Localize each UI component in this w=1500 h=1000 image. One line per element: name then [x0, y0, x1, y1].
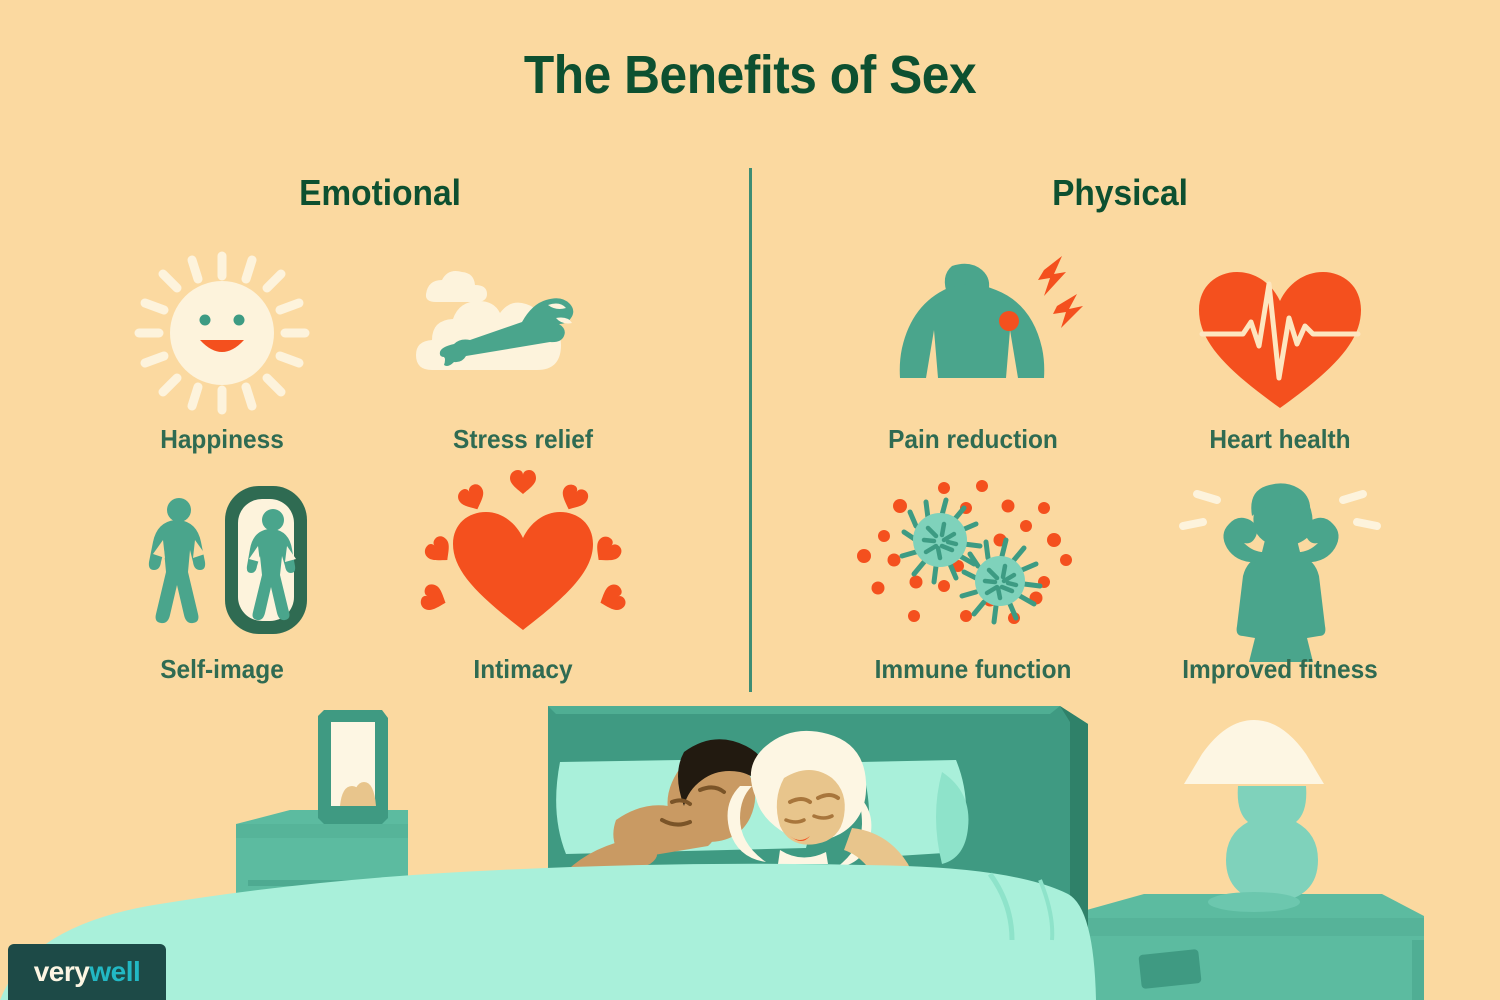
person-on-cloud-icon [398, 248, 648, 418]
benefit-label: Immune function [856, 654, 1091, 685]
heart-ecg-icon [1155, 248, 1405, 418]
benefit-label: Happiness [105, 424, 340, 455]
benefit-stress-relief: Stress relief [398, 248, 648, 455]
benefit-flexing-figure: Improved fitness [1155, 478, 1405, 685]
benefit-label: Self-image [105, 654, 340, 685]
column-heading-emotional: Emotional [185, 172, 576, 214]
benefit-happiness: Happiness [97, 248, 347, 455]
column-heading-physical: Physical [925, 172, 1316, 214]
benefit-heart-health: Heart health [1155, 248, 1405, 455]
immune-cells-icon [848, 478, 1098, 648]
flexing-figure-icon [1155, 478, 1405, 648]
benefit-pain-reduction: Pain reduction [848, 248, 1098, 455]
benefit-label: Stress relief [406, 424, 641, 455]
benefit-label: Heart health [1163, 424, 1398, 455]
couple-in-bed-scene [0, 690, 1500, 1000]
benefit-label: Intimacy [406, 654, 641, 685]
logo-text-well: well [89, 956, 140, 987]
verywell-logo[interactable]: verywell [8, 944, 166, 1000]
benefit-self-image: Self-image [97, 478, 347, 685]
infographic-canvas: The Benefits of Sex Emotional Physical [0, 0, 1500, 1000]
table-lamp [1184, 720, 1324, 912]
logo-text-very: very [34, 956, 90, 987]
torso-lightning-icon [848, 248, 1098, 418]
page-title: The Benefits of Sex [60, 44, 1440, 106]
benefit-label: Improved fitness [1163, 654, 1398, 685]
benefit-immune-function: Immune function [848, 478, 1098, 685]
heart-with-small-hearts-icon [398, 478, 648, 648]
benefit-intimacy: Intimacy [398, 478, 648, 685]
person-mirror-icon [97, 478, 347, 648]
picture-frame [318, 710, 388, 824]
smiling-sun-icon [97, 248, 347, 418]
benefit-label: Pain reduction [856, 424, 1091, 455]
column-divider [749, 168, 752, 692]
